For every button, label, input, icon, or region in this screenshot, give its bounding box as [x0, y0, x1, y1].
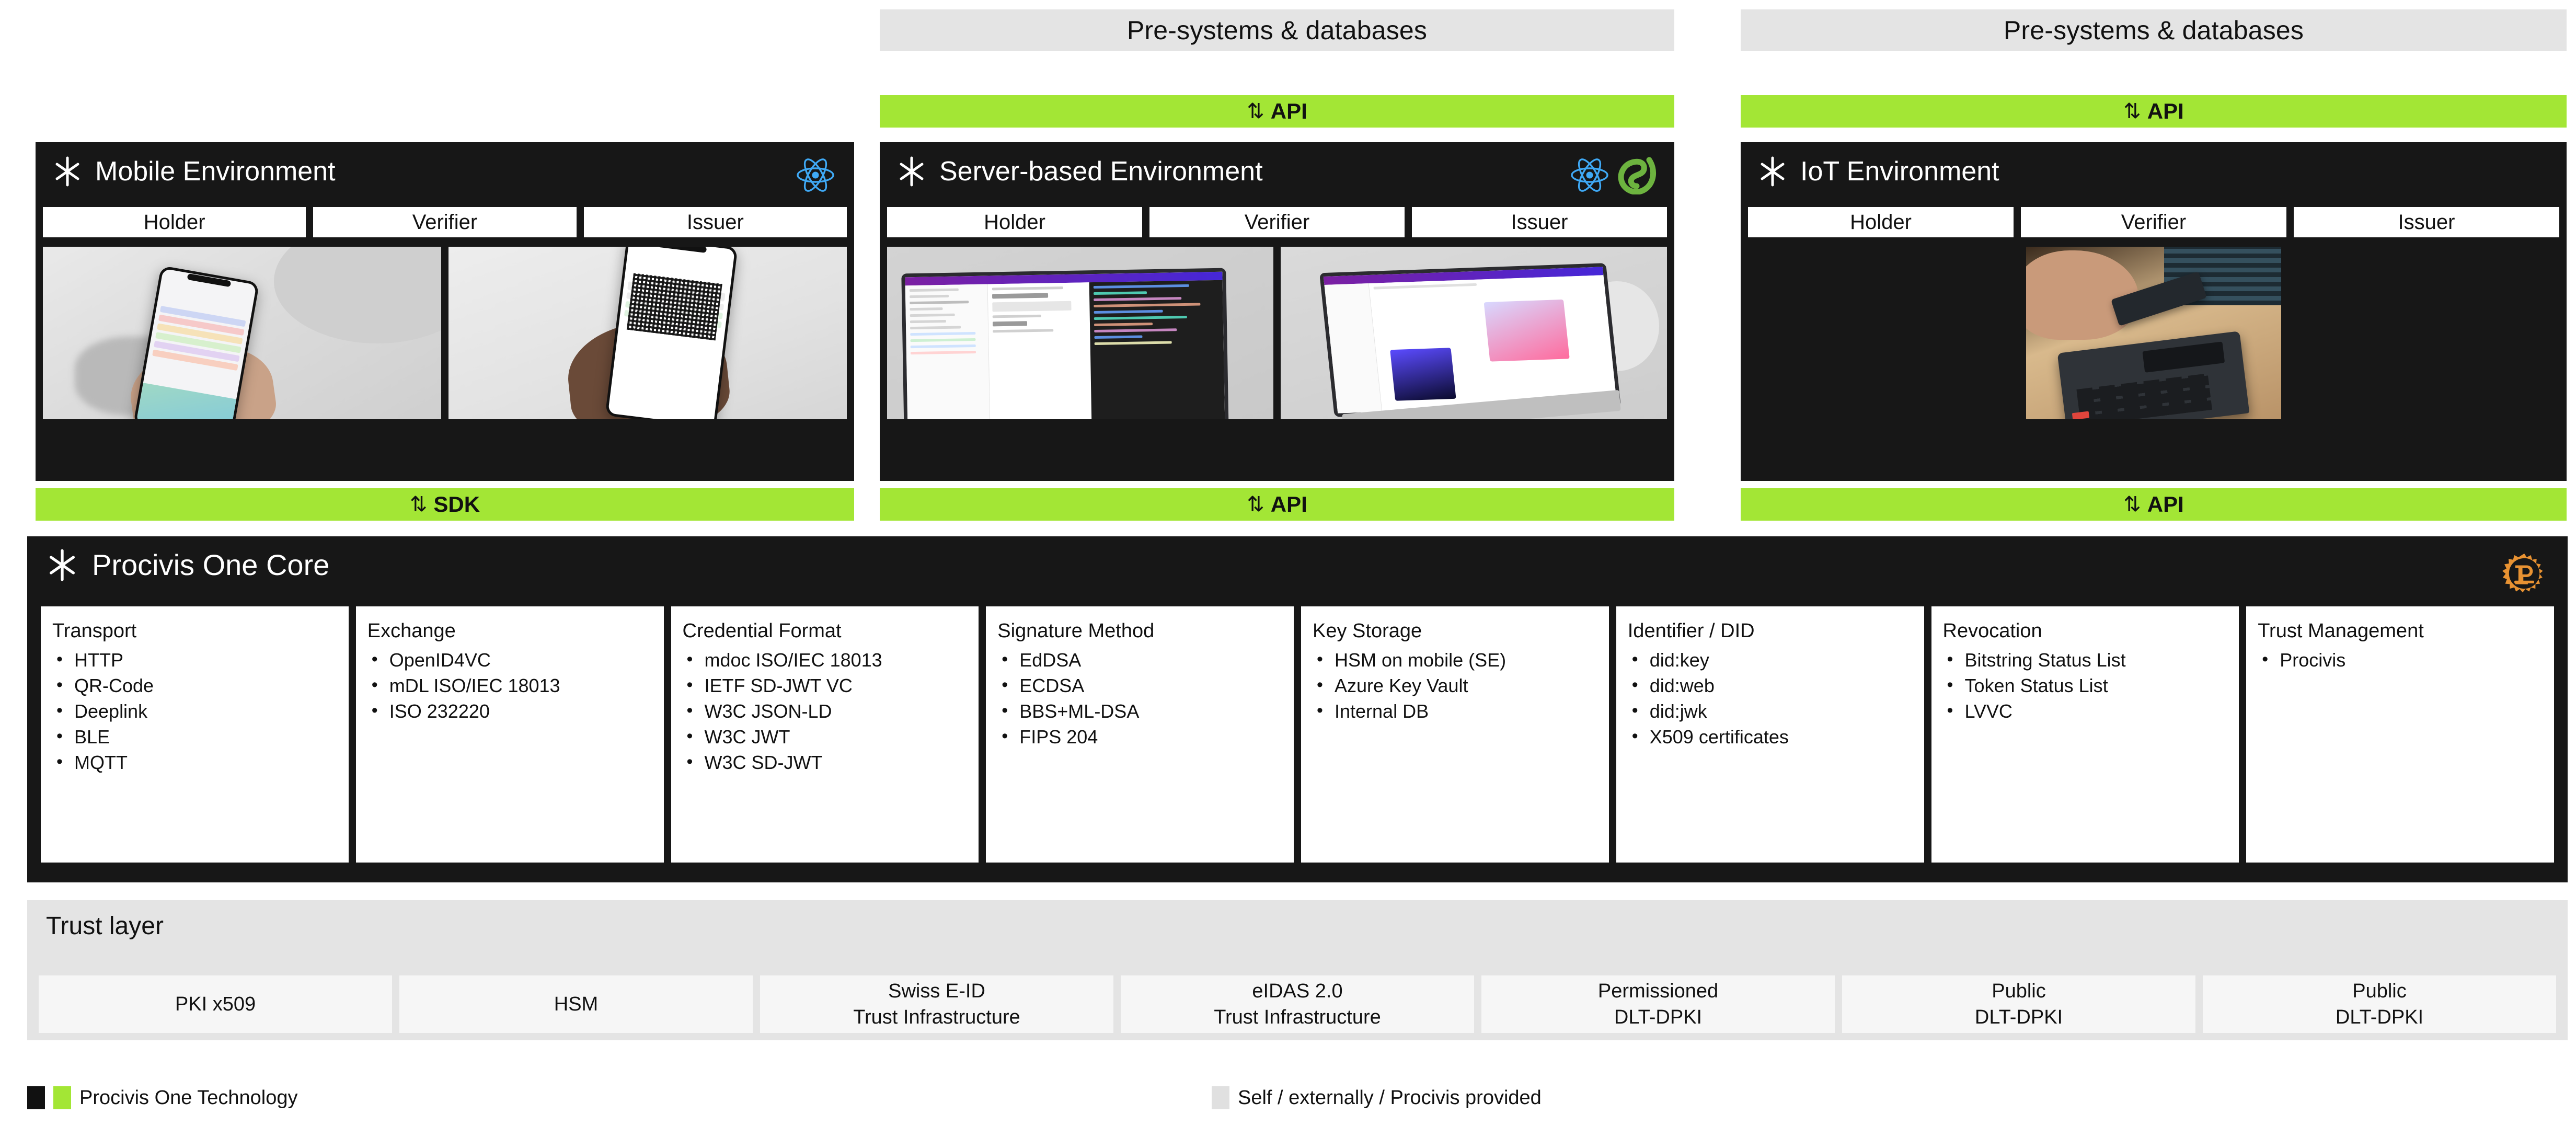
- list-item: BBS+ML-DSA: [997, 699, 1283, 725]
- trust-cell-line1: Permissioned: [1598, 978, 1718, 1004]
- core-column-items: HTTP QR-Code Deeplink BLE MQTT: [52, 648, 338, 776]
- core-column-key-storage: Key Storage HSM on mobile (SE) Azure Key…: [1301, 606, 1609, 863]
- core-column-identifier-did: Identifier / DID did:key did:web did:jwk…: [1616, 606, 1924, 863]
- procivis-star-icon: [53, 156, 82, 187]
- pre-systems-header-iot-label: Pre-systems & databases: [2004, 15, 2304, 45]
- rust-icon: [2502, 551, 2547, 596]
- trust-cell-line2: DLT-DPKI: [2336, 1004, 2423, 1030]
- core-column-title: Credential Format: [683, 620, 969, 642]
- core-column-items: did:key did:web did:jwk X509 certificate…: [1628, 648, 1914, 750]
- api-bar-server-bottom-label: API: [1271, 492, 1307, 517]
- core-column-credential-format: Credential Format mdoc ISO/IEC 18013 IET…: [671, 606, 979, 863]
- iot-environment-label: IoT Environment: [1800, 156, 1999, 187]
- list-item: mDL ISO/IEC 18013: [367, 673, 653, 699]
- list-item: EdDSA: [997, 648, 1283, 673]
- legend-swatch-green: [53, 1086, 71, 1109]
- trust-cell-line1: HSM: [554, 991, 598, 1017]
- photo-qr-presentation: [448, 247, 847, 419]
- list-item: LVVC: [1943, 699, 2229, 725]
- core-column-items: HSM on mobile (SE) Azure Key Vault Inter…: [1313, 648, 1598, 725]
- role-verifier[interactable]: Verifier: [2021, 207, 2286, 237]
- core-column-title: Identifier / DID: [1628, 620, 1914, 642]
- core-column-transport: Transport HTTP QR-Code Deeplink BLE MQTT: [41, 606, 349, 863]
- trust-cell-line1: Public: [1992, 978, 2046, 1004]
- trust-cell-line2: Trust Infrastructure: [853, 1004, 1020, 1030]
- mobile-photos: [43, 247, 847, 419]
- sdk-bar-mobile-label: SDK: [433, 492, 480, 517]
- monitor: [901, 268, 1228, 419]
- sdk-bar-mobile: ⇅ SDK: [36, 488, 854, 521]
- role-holder[interactable]: Holder: [887, 207, 1142, 237]
- list-item: did:jwk: [1628, 699, 1914, 725]
- trust-cell[interactable]: PKI x509: [39, 975, 392, 1033]
- core-column-title: Signature Method: [997, 620, 1283, 642]
- legend-self-provided: Self / externally / Procivis provided: [1212, 1086, 1542, 1109]
- procivis-star-icon: [47, 548, 77, 582]
- trust-cell[interactable]: Public DLT-DPKI: [1842, 975, 2195, 1033]
- procivis-star-icon: [1758, 156, 1787, 187]
- list-item: ISO 232220: [367, 699, 653, 725]
- photo-laptop-design: [1281, 247, 1667, 419]
- list-item: Procivis: [2258, 648, 2544, 673]
- legend-self-provided-label: Self / externally / Procivis provided: [1238, 1087, 1542, 1109]
- list-item: Azure Key Vault: [1313, 673, 1598, 699]
- server-photos: [887, 247, 1667, 419]
- role-holder[interactable]: Holder: [43, 207, 306, 237]
- legend-procivis-label: Procivis One Technology: [79, 1087, 298, 1109]
- mobile-roles: Holder Verifier Issuer: [43, 207, 847, 237]
- mobile-environment-tech-icons: [795, 156, 836, 194]
- updown-arrow-icon: ⇅: [1247, 492, 1264, 516]
- trust-layer-title: Trust layer: [46, 912, 164, 940]
- trust-cell[interactable]: HSM: [399, 975, 753, 1033]
- photo-wallet-credentials: [43, 247, 441, 419]
- api-bar-iot-top-label: API: [2147, 99, 2184, 124]
- core-column-items: mdoc ISO/IEC 18013 IETF SD-JWT VC W3C JS…: [683, 648, 969, 776]
- server-environment-title: Server-based Environment: [898, 156, 1263, 187]
- api-bar-server-top: ⇅ API: [880, 95, 1674, 128]
- core-column-signature-method: Signature Method EdDSA ECDSA BBS+ML-DSA …: [986, 606, 1294, 863]
- phone-device: [605, 247, 738, 419]
- core-column-title: Exchange: [367, 620, 653, 642]
- architecture-diagram: Pre-systems & databases Pre-systems & da…: [0, 0, 2576, 1126]
- iot-photos: [1748, 247, 2559, 419]
- trust-cell-line2: DLT-DPKI: [1975, 1004, 2063, 1030]
- list-item: did:key: [1628, 648, 1914, 673]
- list-item: IETF SD-JWT VC: [683, 673, 969, 699]
- trust-cell[interactable]: eIDAS 2.0 Trust Infrastructure: [1121, 975, 1474, 1033]
- core-title: Procivis One Core: [47, 548, 329, 582]
- server-environment-panel: Server-based Environment Holder Verifier…: [880, 142, 1674, 481]
- trust-cell-line1: Public: [2352, 978, 2407, 1004]
- legend-swatch-black: [27, 1086, 45, 1109]
- core-column-trust-management: Trust Management Procivis: [2246, 606, 2554, 863]
- iot-environment-title: IoT Environment: [1758, 156, 1999, 187]
- list-item: OpenID4VC: [367, 648, 653, 673]
- list-item: W3C JSON-LD: [683, 699, 969, 725]
- iot-environment-panel: IoT Environment Holder Verifier Issuer: [1741, 142, 2567, 481]
- procivis-star-icon: [898, 156, 926, 187]
- pre-systems-header-server-label: Pre-systems & databases: [1127, 15, 1427, 45]
- server-roles: Holder Verifier Issuer: [887, 207, 1667, 237]
- core-column-title: Trust Management: [2258, 620, 2544, 642]
- core-capability-columns: Transport HTTP QR-Code Deeplink BLE MQTT…: [41, 606, 2554, 863]
- core-column-title: Key Storage: [1313, 620, 1598, 642]
- role-issuer[interactable]: Issuer: [2294, 207, 2559, 237]
- iot-roles: Holder Verifier Issuer: [1748, 207, 2559, 237]
- core-column-title: Revocation: [1943, 620, 2229, 642]
- mobile-environment-title: Mobile Environment: [53, 156, 336, 187]
- api-bar-server-top-label: API: [1271, 99, 1307, 124]
- list-item: QR-Code: [52, 673, 338, 699]
- photo-nfc-terminal: [2026, 247, 2281, 419]
- core-column-revocation: Revocation Bitstring Status List Token S…: [1931, 606, 2239, 863]
- api-bar-server-bottom: ⇅ API: [880, 488, 1674, 521]
- trust-cell[interactable]: Public DLT-DPKI: [2203, 975, 2556, 1033]
- api-bar-iot-bottom-label: API: [2147, 492, 2184, 517]
- updown-arrow-icon: ⇅: [410, 492, 428, 516]
- list-item: FIPS 204: [997, 725, 1283, 750]
- procivis-one-core-panel: Procivis One Core Transport HTTP QR-Code…: [27, 536, 2568, 882]
- photo-desktop-console: [887, 247, 1273, 419]
- list-item: Token Status List: [1943, 673, 2229, 699]
- trust-cell-line2: Trust Infrastructure: [1214, 1004, 1381, 1030]
- list-item: Deeplink: [52, 699, 338, 725]
- core-column-items: OpenID4VC mDL ISO/IEC 18013 ISO 232220: [367, 648, 653, 725]
- list-item: Bitstring Status List: [1943, 648, 2229, 673]
- pre-systems-header-server: Pre-systems & databases: [880, 9, 1674, 51]
- updown-arrow-icon: ⇅: [2123, 492, 2141, 516]
- trust-cell-line1: Swiss E-ID: [888, 978, 985, 1004]
- api-bar-iot-top: ⇅ API: [1741, 95, 2567, 128]
- mobile-environment-label: Mobile Environment: [95, 156, 336, 187]
- list-item: Internal DB: [1313, 699, 1598, 725]
- list-item: mdoc ISO/IEC 18013: [683, 648, 969, 673]
- updown-arrow-icon: ⇅: [1247, 99, 1264, 123]
- server-environment-tech-icons: [1569, 156, 1657, 194]
- mobile-environment-panel: Mobile Environment Holder Verifier Issue…: [36, 142, 854, 481]
- react-icon: [795, 156, 836, 194]
- list-item: X509 certificates: [1628, 725, 1914, 750]
- list-item: MQTT: [52, 750, 338, 776]
- core-column-title: Transport: [52, 620, 338, 642]
- list-item: HTTP: [52, 648, 338, 673]
- trust-cell-line2: DLT-DPKI: [1614, 1004, 1702, 1030]
- api-bar-iot-bottom: ⇅ API: [1741, 488, 2567, 521]
- role-verifier[interactable]: Verifier: [313, 207, 576, 237]
- spring-icon: [1618, 156, 1657, 194]
- trust-cell[interactable]: Permissioned DLT-DPKI: [1481, 975, 1835, 1033]
- server-environment-label: Server-based Environment: [939, 156, 1263, 187]
- list-item: did:web: [1628, 673, 1914, 699]
- role-issuer[interactable]: Issuer: [584, 207, 847, 237]
- list-item: HSM on mobile (SE): [1313, 648, 1598, 673]
- trust-cell-line1: eIDAS 2.0: [1252, 978, 1342, 1004]
- core-column-items: Procivis: [2258, 648, 2544, 673]
- role-holder[interactable]: Holder: [1748, 207, 2014, 237]
- core-column-items: Bitstring Status List Token Status List …: [1943, 648, 2229, 725]
- trust-layer-cells: PKI x509 HSM Swiss E-ID Trust Infrastruc…: [39, 975, 2556, 1033]
- list-item: W3C JWT: [683, 725, 969, 750]
- core-title-label: Procivis One Core: [92, 548, 329, 582]
- role-issuer[interactable]: Issuer: [1412, 207, 1667, 237]
- trust-layer-panel: Trust layer PKI x509 HSM Swiss E-ID Trus…: [27, 900, 2568, 1040]
- list-item: BLE: [52, 725, 338, 750]
- trust-cell-line1: PKI x509: [175, 991, 256, 1017]
- react-icon: [1569, 156, 1611, 194]
- pre-systems-header-iot: Pre-systems & databases: [1741, 9, 2567, 51]
- core-column-exchange: Exchange OpenID4VC mDL ISO/IEC 18013 ISO…: [356, 606, 664, 863]
- list-item: W3C SD-JWT: [683, 750, 969, 776]
- list-item: ECDSA: [997, 673, 1283, 699]
- legend-swatch-gray: [1212, 1086, 1229, 1109]
- updown-arrow-icon: ⇅: [2123, 99, 2141, 123]
- role-verifier[interactable]: Verifier: [1149, 207, 1405, 237]
- core-column-items: EdDSA ECDSA BBS+ML-DSA FIPS 204: [997, 648, 1283, 750]
- trust-cell[interactable]: Swiss E-ID Trust Infrastructure: [760, 975, 1113, 1033]
- legend-procivis-technology: Procivis One Technology: [27, 1086, 298, 1109]
